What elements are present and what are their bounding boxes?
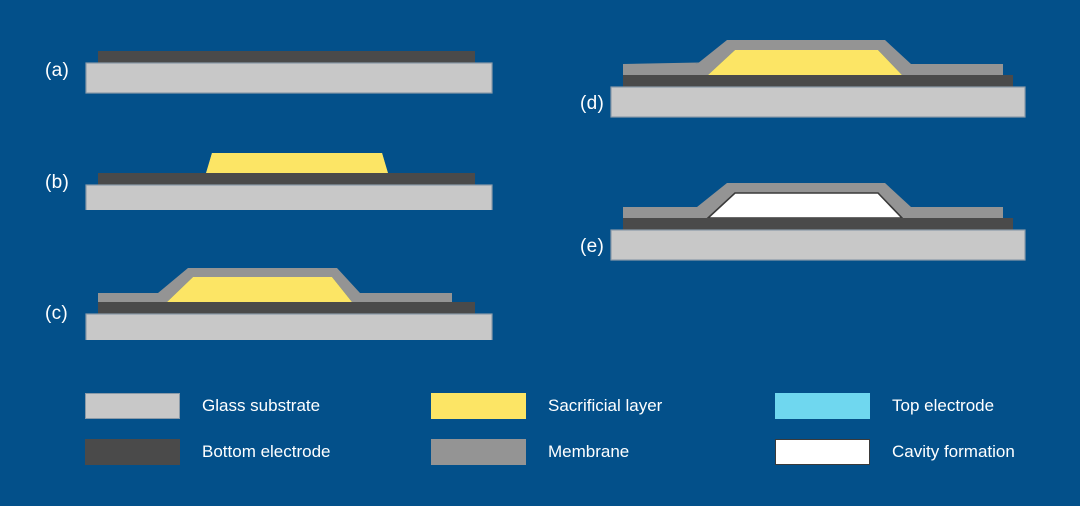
legend-label-glass-substrate: Glass substrate (202, 396, 320, 416)
sacrificial-layer-swatch (431, 393, 526, 419)
panel-c-label: (c) (45, 303, 68, 325)
legend-item-glass-substrate: Glass substrate (85, 393, 320, 419)
figure-canvas: (a) (b) (c) (d) (0, 0, 1080, 506)
membrane-swatch (431, 439, 526, 465)
legend-item-membrane: Membrane (431, 439, 629, 465)
legend-item-cavity-formation: Cavity formation (775, 439, 1015, 465)
glass-substrate-layer (86, 314, 492, 340)
panel-a-label: (a) (45, 60, 69, 82)
glass-substrate-layer (611, 87, 1025, 117)
glass-substrate-swatch (85, 393, 180, 419)
legend-item-sacrificial-layer: Sacrificial layer (431, 393, 662, 419)
legend-label-bottom-electrode: Bottom electrode (202, 442, 331, 462)
panel-e-cross-section (575, 178, 1045, 268)
panel-c: (c) (40, 255, 510, 340)
bottom-electrode-layer (623, 75, 1013, 87)
legend-item-bottom-electrode: Bottom electrode (85, 439, 331, 465)
legend-label-cavity-formation: Cavity formation (892, 442, 1015, 462)
top-electrode-swatch (775, 393, 870, 419)
panel-d-cross-section (575, 35, 1045, 125)
bottom-electrode-layer (98, 51, 475, 63)
glass-substrate-layer (611, 230, 1025, 260)
legend-label-top-electrode: Top electrode (892, 396, 994, 416)
panel-b-cross-section (40, 140, 510, 210)
legend-label-membrane: Membrane (548, 442, 629, 462)
panel-a-cross-section (40, 45, 510, 100)
glass-substrate-layer (86, 63, 492, 93)
panel-d: (d) (575, 35, 1045, 125)
bottom-electrode-layer (98, 302, 475, 314)
sacrificial-layer-upper (206, 153, 388, 173)
legend: Glass substrate Bottom electrode Sacrifi… (0, 380, 1080, 480)
panel-d-label: (d) (580, 93, 604, 115)
cavity-shape (708, 193, 902, 218)
panel-b: (b) (40, 140, 510, 210)
panel-b-label: (b) (45, 172, 69, 194)
bottom-electrode-layer (98, 173, 475, 185)
panel-e-label: (e) (580, 236, 604, 258)
panel-c-cross-section (40, 255, 510, 340)
panel-a: (a) (40, 45, 510, 100)
cavity-formation-swatch (775, 439, 870, 465)
bottom-electrode-swatch (85, 439, 180, 465)
sacrificial-layer-shape (708, 50, 902, 75)
legend-label-sacrificial-layer: Sacrificial layer (548, 396, 662, 416)
bottom-electrode-layer (623, 218, 1013, 230)
sacrificial-layer-shape (167, 277, 352, 302)
panel-e: (e) (575, 178, 1045, 268)
glass-substrate-layer (86, 185, 492, 210)
legend-item-top-electrode: Top electrode (775, 393, 994, 419)
